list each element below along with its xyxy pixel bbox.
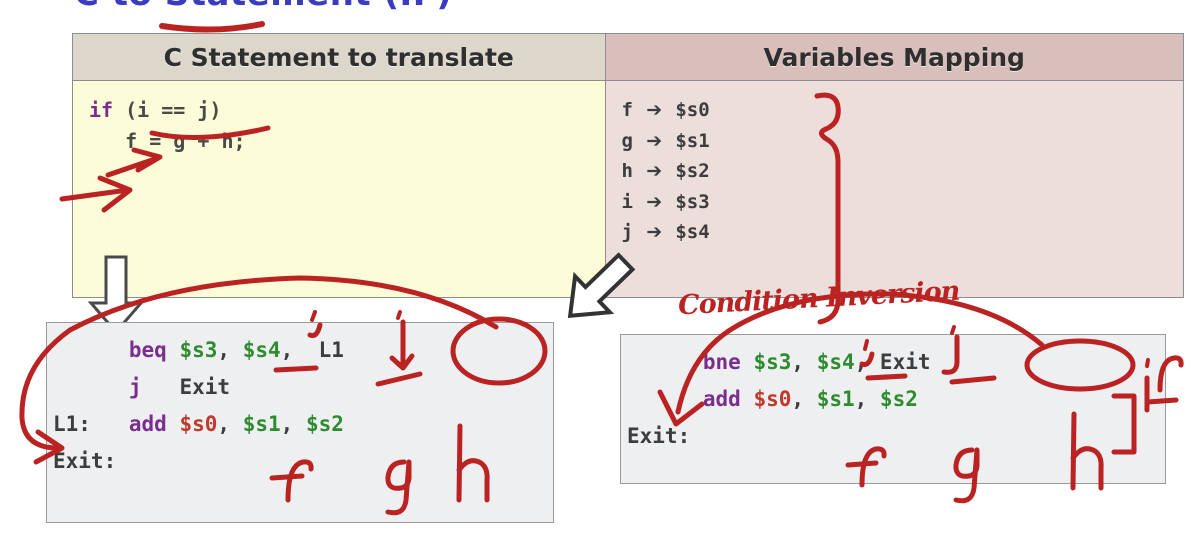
mapping-register: $s4 (675, 221, 709, 243)
assembly-code-box-original: beq $s3, $s4, L1 j ExitL1: add $s0, $s1,… (46, 322, 554, 523)
table-column-c-statement: C Statement to translate if (i == j) f =… (73, 34, 606, 297)
mapping-row: j ➔ $s4 (622, 217, 1183, 248)
mapping-variable: h (622, 160, 633, 182)
c-code-text: (i == j) (113, 98, 221, 122)
code-operand: $s0 (753, 387, 791, 411)
code-operand: $s1 (243, 412, 281, 436)
ink-dot-j-left (398, 312, 400, 318)
c-keyword: if (89, 98, 113, 122)
slide-title: C to Statement (IF) (74, 0, 452, 14)
maps-to-arrow-icon: ➔ (633, 160, 675, 182)
code-operand: $s4 (243, 338, 281, 362)
mapping-variable: g (622, 130, 633, 152)
code-label: Exit: (627, 424, 690, 448)
code-operand: $s3 (753, 350, 791, 374)
code-opcode: add (703, 387, 741, 411)
maps-to-arrow-icon: ➔ (633, 191, 675, 213)
code-operand: $s0 (179, 412, 217, 436)
code-opcode: add (129, 412, 167, 436)
code-line: add $s0, $s1, $s2 (627, 381, 1165, 418)
code-label (627, 350, 703, 374)
maps-to-arrow-icon: ➔ (633, 130, 675, 152)
mapping-row: g ➔ $s1 (622, 126, 1183, 157)
variables-mapping-body: f ➔ $s0 g ➔ $s1 h ➔ $s2 i ➔ $s3 j ➔ $s4 (606, 81, 1183, 297)
code-branch-target: Exit (179, 375, 230, 399)
code-operand: $s3 (179, 338, 217, 362)
code-line: bne $s3, $s4, Exit (627, 344, 1165, 381)
code-label (627, 387, 703, 411)
ink-title-underline (162, 24, 262, 30)
column-header-variables-mapping: Variables Mapping (606, 34, 1183, 81)
code-branch-target: L1 (319, 338, 344, 362)
c-code-text: f = g + h; (89, 129, 246, 153)
code-opcode: beq (129, 338, 167, 362)
mapping-variable: i (622, 191, 633, 213)
code-label (53, 375, 129, 399)
code-operand: $s4 (817, 350, 855, 374)
code-label: L1: (53, 412, 91, 436)
mapping-register: $s1 (675, 130, 709, 152)
code-line: Exit: (53, 443, 553, 480)
ink-dot-j-right (952, 327, 954, 333)
maps-to-arrow-icon: ➔ (633, 221, 675, 243)
maps-to-arrow-icon: ➔ (633, 99, 675, 121)
code-line: beq $s3, $s4, L1 (53, 332, 553, 369)
code-operand: $s2 (306, 412, 344, 436)
c-code-line: if (i == j) (89, 95, 605, 126)
mapping-row: i ➔ $s3 (622, 187, 1183, 218)
code-opcode: j (129, 375, 142, 399)
code-label (53, 338, 129, 362)
ink-dot-i-left (312, 312, 315, 320)
code-line: L1: add $s0, $s1, $s2 (53, 406, 553, 443)
column-header-c-statement: C Statement to translate (73, 34, 605, 81)
code-line: Exit: (627, 418, 1165, 455)
code-branch-target: Exit (880, 350, 931, 374)
code-line: j Exit (53, 369, 553, 406)
code-opcode: bne (703, 350, 741, 374)
mapping-row: f ➔ $s0 (622, 95, 1183, 126)
c-statement-body: if (i == j) f = g + h; (73, 81, 605, 297)
assembly-code-box-inverted: bne $s3, $s4, Exit add $s0, $s1, $s2Exit… (620, 334, 1166, 484)
c-code-line: f = g + h; (89, 126, 605, 157)
mapping-register: $s0 (675, 99, 709, 121)
code-operand: $s1 (817, 387, 855, 411)
code-operand: $s2 (880, 387, 918, 411)
slide-canvas: C to Statement (IF) C Statement to trans… (0, 0, 1196, 540)
table-column-variables-mapping: Variables Mapping f ➔ $s0 g ➔ $s1 h ➔ $s… (606, 34, 1183, 297)
code-label: Exit: (53, 449, 116, 473)
mapping-variable: j (622, 221, 633, 243)
mapping-register: $s2 (675, 160, 709, 182)
mapping-row: h ➔ $s2 (622, 156, 1183, 187)
mapping-variable: f (622, 99, 633, 121)
mapping-register: $s3 (675, 191, 709, 213)
